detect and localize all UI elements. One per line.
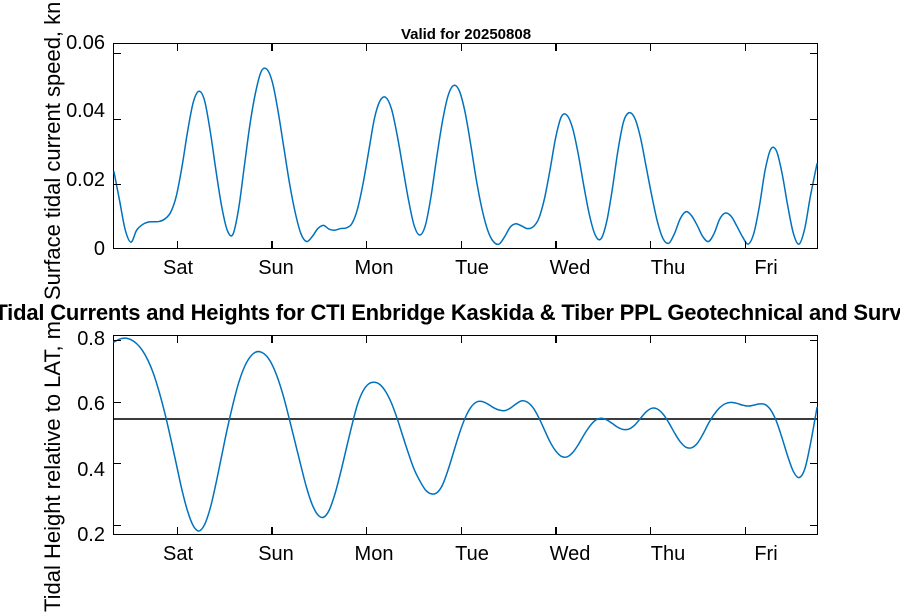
top-panel-title: Valid for 20250808: [401, 26, 531, 43]
top-xtick-label-mon: Mon: [355, 258, 394, 278]
bottom-ytick-label-06: 0.6: [77, 394, 105, 414]
x-tick-mark: [271, 44, 272, 51]
bottom-panel-axes: [113, 335, 818, 535]
x-tick-mark: [271, 336, 272, 343]
mean-level-reference-line: [114, 418, 817, 419]
top-xtick-label-fri: Fri: [754, 258, 777, 278]
y-tick-mark: [114, 119, 121, 120]
y-tick-mark: [810, 463, 817, 464]
y-tick-mark: [810, 184, 817, 185]
y-tick-mark: [114, 340, 121, 341]
x-tick-mark: [177, 527, 178, 534]
x-tick-mark: [555, 336, 556, 343]
top-ytick-label-004: 0.04: [66, 101, 105, 121]
tidal-figure: Valid for 20250808 Surface tidal current…: [0, 0, 900, 600]
x-tick-mark: [461, 241, 462, 248]
top-panel-axes: [113, 43, 818, 249]
x-tick-mark: [745, 336, 746, 343]
series-line: [114, 68, 817, 244]
x-tick-mark: [271, 527, 272, 534]
x-tick-mark: [650, 241, 651, 248]
bottom-xtick-label-thu: Thu: [651, 544, 685, 564]
y-tick-mark: [810, 119, 817, 120]
x-tick-mark: [555, 527, 556, 534]
x-tick-mark: [271, 241, 272, 248]
y-tick-mark: [114, 463, 121, 464]
y-tick-mark: [114, 402, 121, 403]
top-ytick-label-002: 0.02: [66, 170, 105, 190]
x-tick-mark: [177, 241, 178, 248]
top-panel-ylabel: Surface tidal current speed, kn: [40, 2, 66, 300]
top-ytick-label-006: 0.06: [66, 33, 105, 53]
y-tick-mark: [114, 53, 121, 54]
x-tick-mark: [745, 44, 746, 51]
x-tick-mark: [366, 527, 367, 534]
x-tick-mark: [177, 44, 178, 51]
top-xtick-label-tue: Tue: [455, 258, 489, 278]
bottom-ytick-label-08: 0.8: [77, 329, 105, 349]
bottom-xtick-label-tue: Tue: [455, 544, 489, 564]
x-tick-mark: [177, 336, 178, 343]
x-tick-mark: [555, 241, 556, 248]
series-line: [114, 338, 817, 531]
x-tick-mark: [366, 44, 367, 51]
x-tick-mark: [745, 527, 746, 534]
top-panel-plot-area: [114, 44, 817, 248]
x-tick-mark: [461, 527, 462, 534]
bottom-xtick-label-sun: Sun: [258, 544, 294, 564]
figure-title: Tidal Currents and Heights for CTI Enbri…: [0, 300, 900, 326]
bottom-xtick-label-wed: Wed: [550, 544, 591, 564]
x-tick-mark: [366, 336, 367, 343]
bottom-ytick-label-02: 0.2: [77, 525, 105, 545]
x-tick-mark: [650, 336, 651, 343]
bottom-panel-plot-area: [114, 336, 817, 534]
top-ytick-label-0: 0: [94, 239, 105, 259]
x-tick-mark: [461, 44, 462, 51]
x-tick-mark: [555, 44, 556, 51]
y-tick-mark: [810, 525, 817, 526]
top-xtick-label-wed: Wed: [550, 258, 591, 278]
bottom-xtick-label-mon: Mon: [355, 544, 394, 564]
x-tick-mark: [745, 241, 746, 248]
bottom-ytick-label-04: 0.4: [77, 460, 105, 480]
x-tick-mark: [650, 44, 651, 51]
top-xtick-label-sat: Sat: [163, 258, 193, 278]
x-tick-mark: [461, 336, 462, 343]
top-xtick-label-sun: Sun: [258, 258, 294, 278]
y-tick-mark: [810, 53, 817, 54]
y-tick-mark: [810, 340, 817, 341]
y-tick-mark: [114, 184, 121, 185]
bottom-xtick-label-sat: Sat: [163, 544, 193, 564]
x-tick-mark: [650, 527, 651, 534]
x-tick-mark: [366, 241, 367, 248]
bottom-panel-ylabel: Tidal Height relative to LAT, m: [40, 321, 66, 612]
top-xtick-label-thu: Thu: [651, 258, 685, 278]
bottom-xtick-label-fri: Fri: [754, 544, 777, 564]
y-tick-mark: [114, 525, 121, 526]
y-tick-mark: [810, 402, 817, 403]
